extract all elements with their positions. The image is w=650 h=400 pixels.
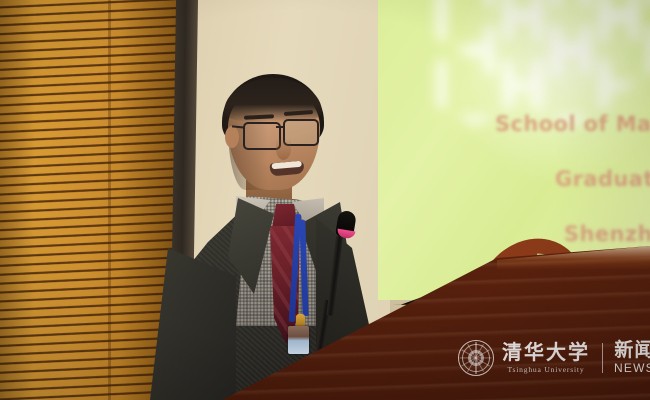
tsinghua-seal-icon	[458, 340, 494, 376]
university-wordmark: 清华大学 Tsinghua University	[502, 342, 590, 374]
teeth	[271, 161, 301, 170]
university-name-en: Tsinghua University	[508, 365, 585, 374]
university-name-cn: 清华大学	[502, 342, 590, 363]
id-badge	[288, 326, 309, 354]
news-label-en: NEWS	[614, 361, 650, 375]
photo-scene: School of Mater Graduate Shenzh	[0, 0, 650, 400]
watermark-divider	[602, 343, 603, 373]
news-label-cn: 新闻	[614, 341, 650, 361]
nose	[276, 138, 291, 160]
news-wordmark: 新闻 NEWS	[614, 341, 650, 376]
tsinghua-news-watermark: 清华大学 Tsinghua University 新闻 NEWS	[458, 340, 650, 376]
left-arm	[150, 248, 236, 400]
ear	[225, 126, 239, 148]
seal-spokes	[459, 341, 493, 375]
eyeglasses-bridge	[276, 126, 285, 128]
